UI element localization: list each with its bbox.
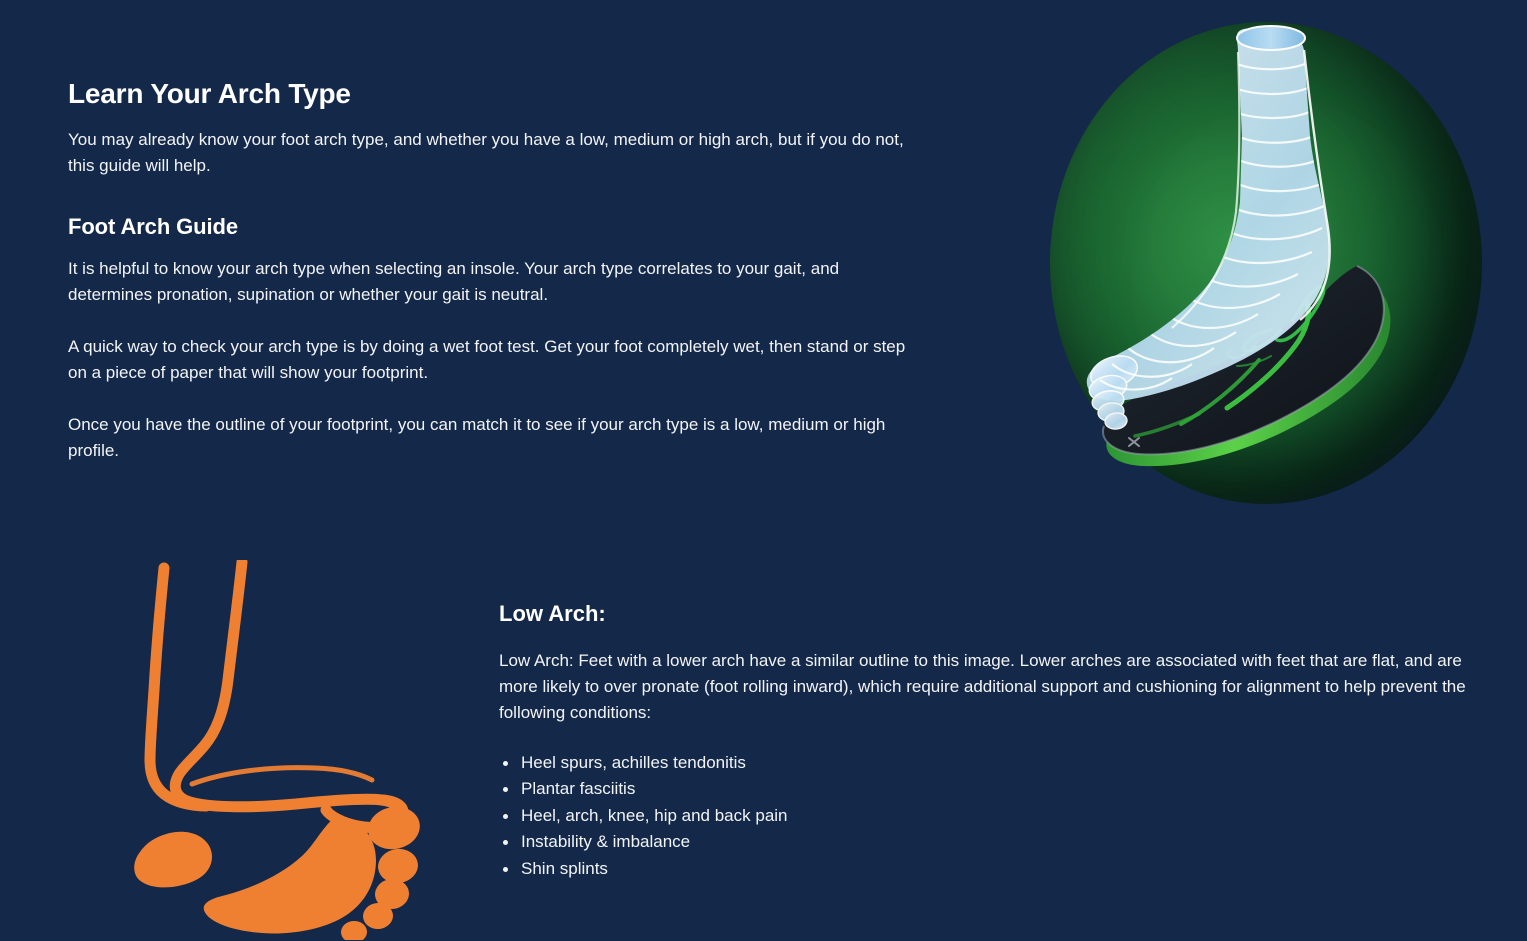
footprint-forefoot — [204, 818, 376, 934]
list-item: Shin splints — [503, 856, 1489, 883]
list-item: Instability & imbalance — [503, 829, 1489, 856]
low-arch-illustration — [120, 560, 440, 940]
intro-text-column: Learn Your Arch Type You may already kno… — [68, 76, 918, 464]
low-arch-section: Low Arch: Low Arch: Feet with a lower ar… — [0, 520, 1527, 941]
footprint-toe-2 — [376, 846, 420, 885]
blue-foot-model — [1078, 16, 1418, 476]
arch-type-guide-page: Learn Your Arch Type You may already kno… — [0, 0, 1527, 941]
low-arch-conditions-list: Heel spurs, achilles tendonitis Plantar … — [499, 750, 1489, 883]
foot-arch-guide-heading: Foot Arch Guide — [68, 213, 918, 242]
low-arch-description: Low Arch: Feet with a lower arch have a … — [499, 648, 1489, 726]
footprint-toe-5 — [341, 921, 368, 940]
list-item: Plantar fasciitis — [503, 776, 1489, 803]
low-arch-text-column: Low Arch: Low Arch: Feet with a lower ar… — [499, 600, 1489, 882]
guide-paragraph-3: Once you have the outline of your footpr… — [68, 412, 918, 464]
intro-paragraph: You may already know your foot arch type… — [68, 127, 918, 179]
list-item: Heel, arch, knee, hip and back pain — [503, 803, 1489, 830]
foot-insole-product-image — [1040, 8, 1490, 508]
low-arch-heading: Low Arch: — [499, 600, 1489, 629]
list-item: Heel spurs, achilles tendonitis — [503, 750, 1489, 777]
footprint-heel-pad — [134, 832, 212, 888]
guide-paragraph-1: It is helpful to know your arch type whe… — [68, 256, 918, 308]
guide-paragraph-2: A quick way to check your arch type is b… — [68, 334, 918, 386]
intro-section: Learn Your Arch Type You may already kno… — [0, 0, 1527, 520]
low-arch-line — [192, 768, 372, 784]
page-title: Learn Your Arch Type — [68, 76, 918, 111]
